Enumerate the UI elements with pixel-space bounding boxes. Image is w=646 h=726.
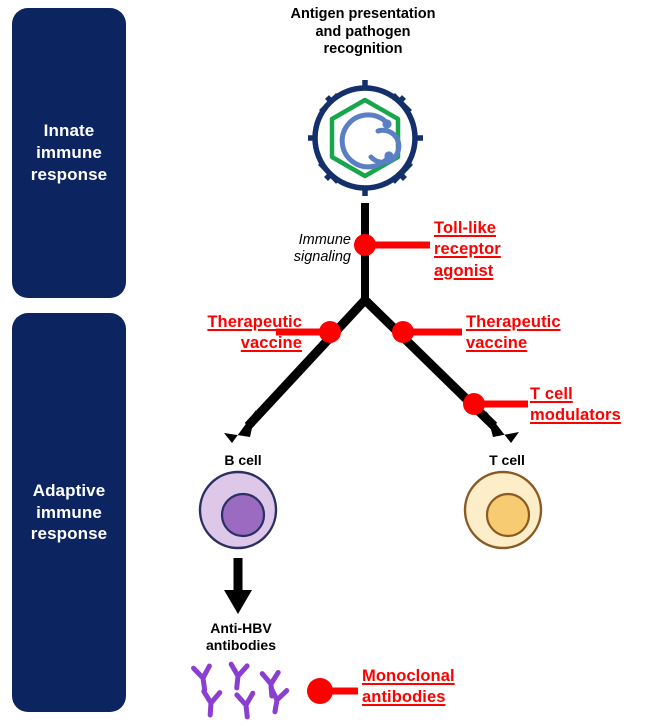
- label-line: Toll-like: [434, 218, 584, 239]
- intervention-nodes: [307, 234, 485, 704]
- label-line: vaccine: [466, 333, 616, 354]
- label-line: T cell: [530, 384, 646, 405]
- immune-response-diagram: Innate immune response Adaptive immune r…: [0, 0, 646, 726]
- node-therapeutic-vaccine-left: [319, 321, 341, 343]
- node-toll-like-receptor-agonist: [354, 234, 376, 256]
- label-therapeutic-vaccine-left: Therapeutic vaccine: [160, 312, 302, 355]
- t-cell-icon: [465, 472, 541, 548]
- b-cell-icon: [200, 472, 276, 548]
- label-line: agonist: [434, 261, 584, 282]
- label-toll-like-receptor-agonist: Toll-like receptor agonist: [434, 218, 584, 282]
- label-monoclonal-antibodies: Monoclonal antibodies: [362, 666, 508, 709]
- label-line: Therapeutic: [160, 312, 302, 333]
- label-line: modulators: [530, 405, 646, 426]
- diagram-graphics-layer: [0, 0, 646, 726]
- label-therapeutic-vaccine-right: Therapeutic vaccine: [466, 312, 616, 355]
- label-line: Therapeutic: [466, 312, 616, 333]
- label-line: receptor: [434, 239, 584, 260]
- label-line: vaccine: [160, 333, 302, 354]
- node-monoclonal-antibodies: [307, 678, 333, 704]
- label-line: Monoclonal: [362, 666, 508, 687]
- node-therapeutic-vaccine-right: [392, 321, 414, 343]
- antigen-presenting-cell-icon: [308, 80, 423, 196]
- antibody-cluster-icon: [194, 664, 287, 718]
- label-line: antibodies: [362, 687, 508, 708]
- label-t-cell-modulators: T cell modulators: [530, 384, 646, 427]
- node-t-cell-modulators: [463, 393, 485, 415]
